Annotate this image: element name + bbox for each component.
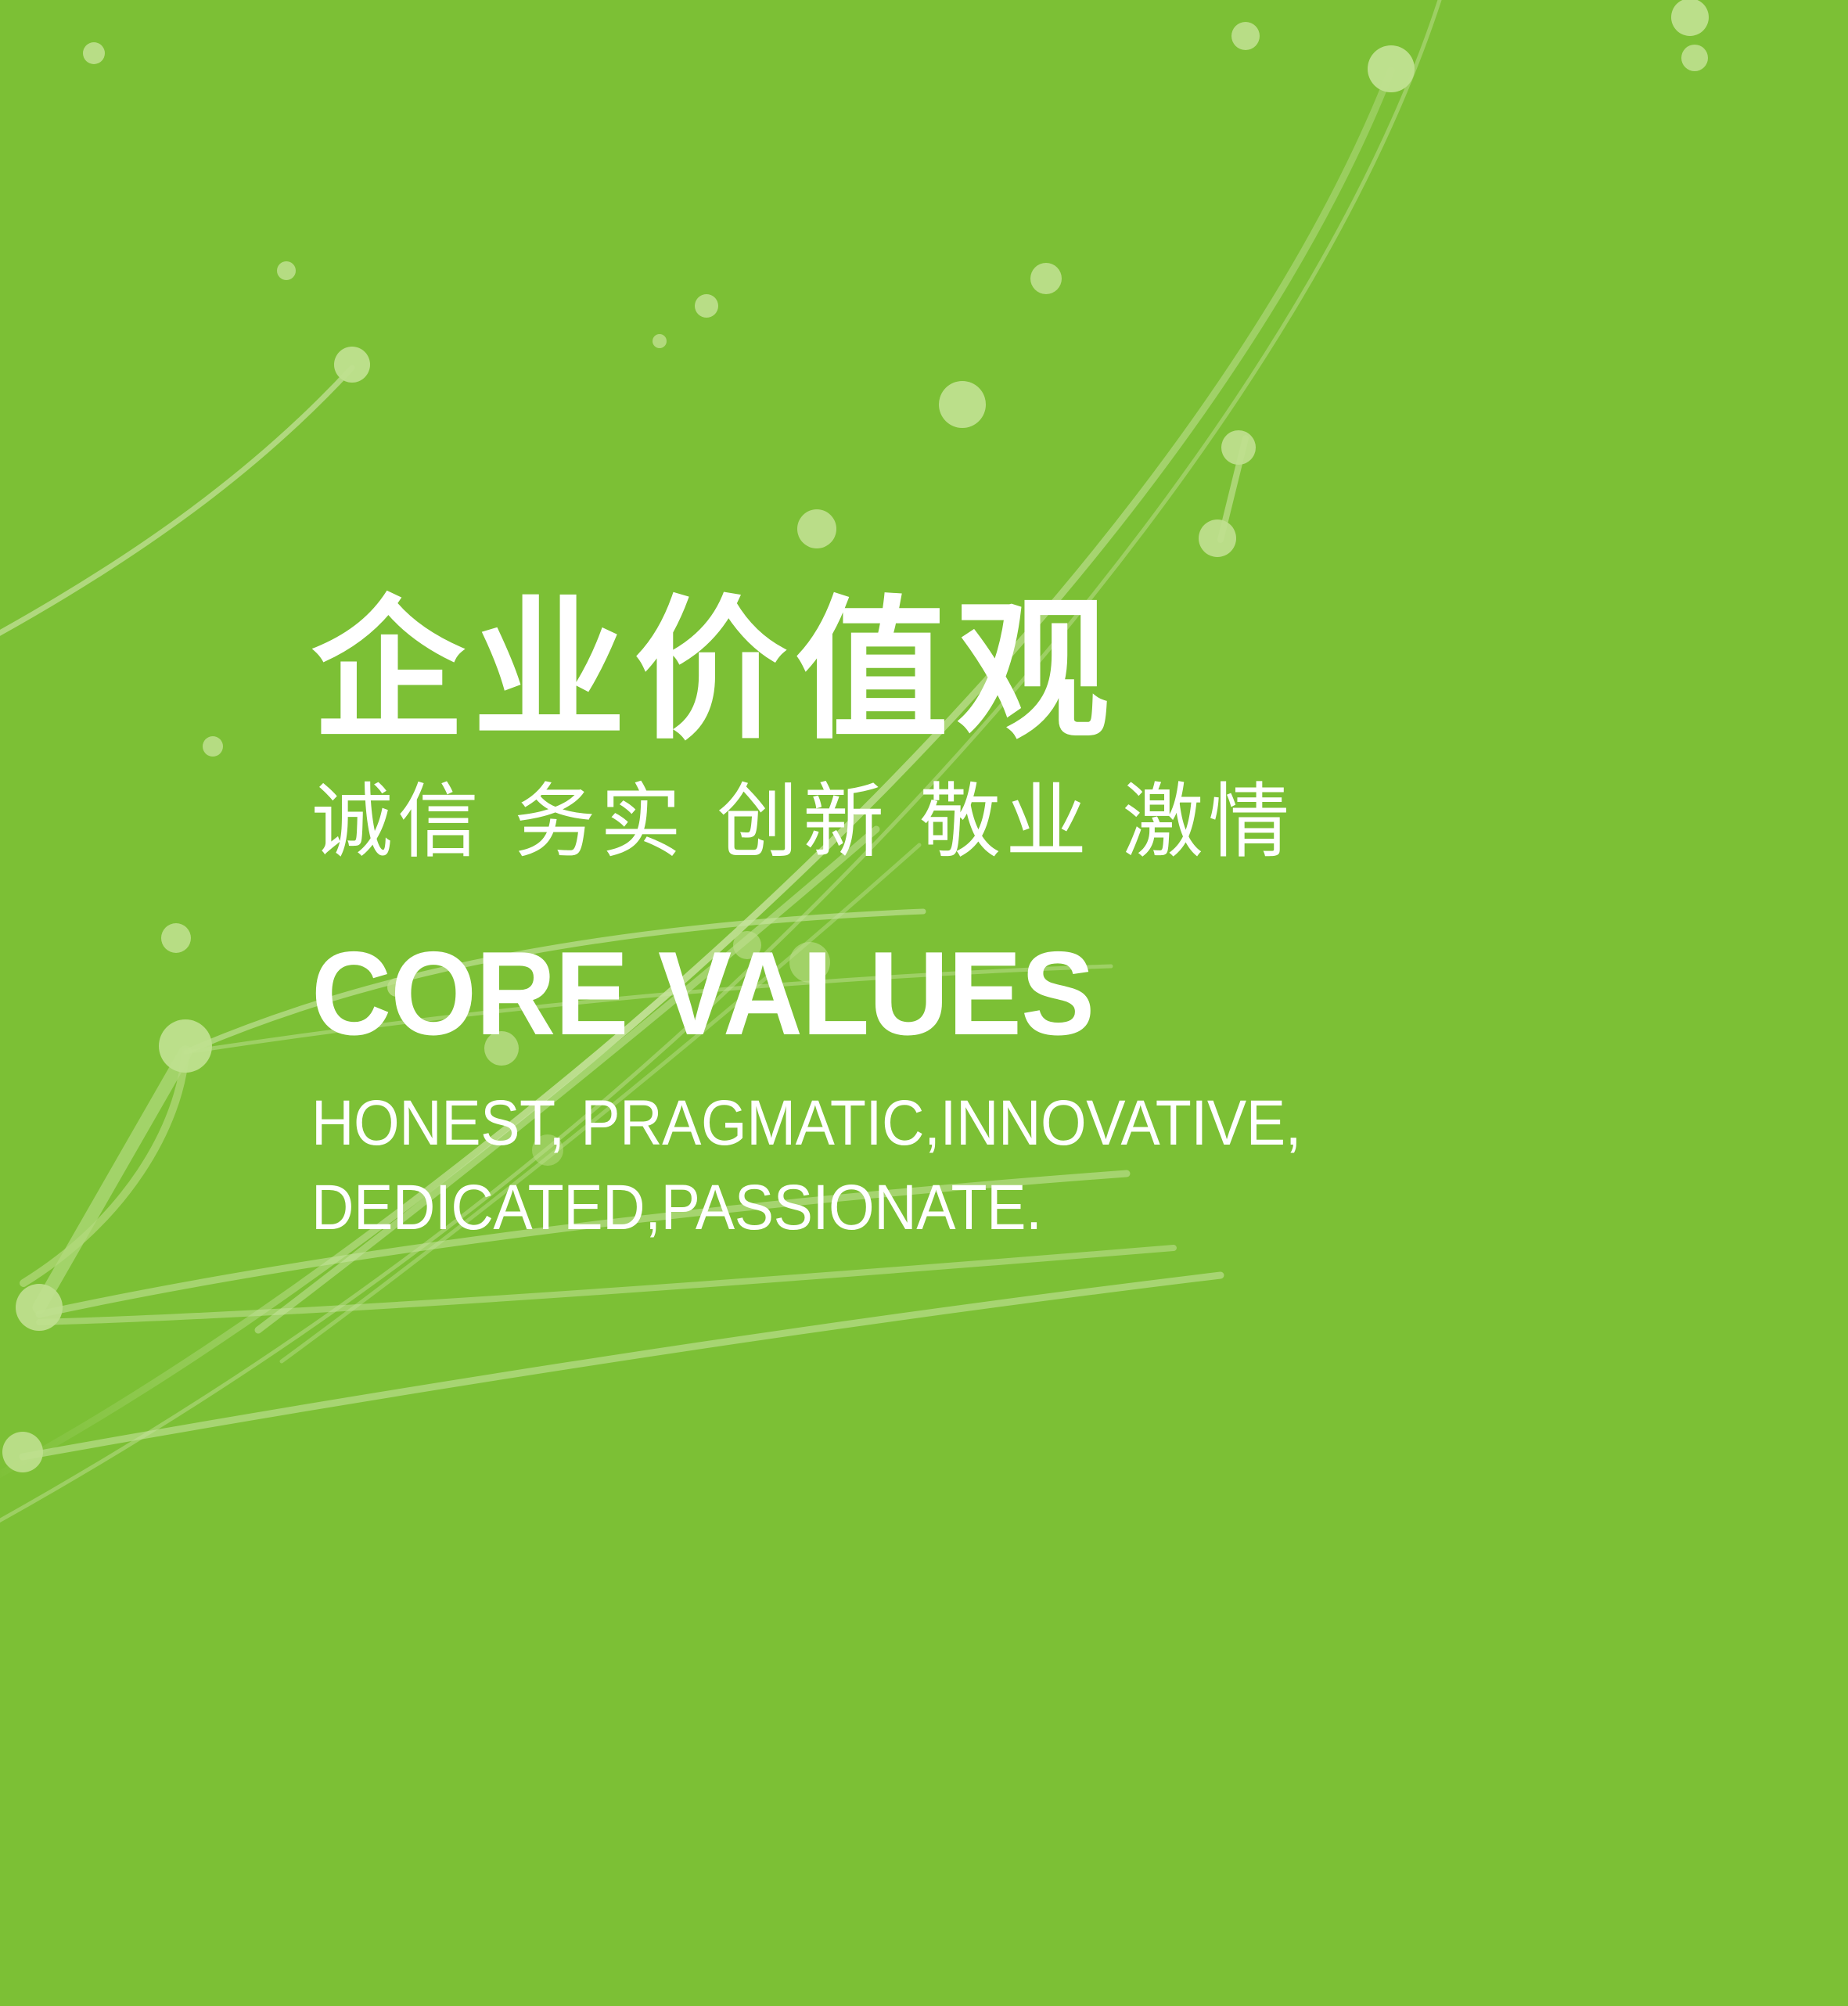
node-dot: [83, 42, 105, 64]
node-dot: [334, 347, 370, 383]
node-dot: [695, 294, 718, 318]
subtitle-english-line-2: DEDICATED,PASSIONATE.: [311, 1166, 1607, 1250]
edge-fan-6: [23, 1052, 185, 1283]
node-dot: [797, 509, 836, 548]
headline-block: 企业价值观 诚信 务实 创新 敬业 激情 CORE VALUES HONEST,…: [311, 595, 1720, 1250]
subtitle-english-line-1: HONEST, PRAGMATIC,INNOVATIVE,: [311, 1081, 1607, 1166]
node-dot: [1368, 45, 1415, 92]
node-dot: [159, 1019, 212, 1073]
node-dot: [1231, 22, 1260, 50]
edge-tick-1: [1221, 438, 1246, 540]
node-dot: [653, 334, 667, 348]
edge-fan-5: [23, 1275, 1221, 1457]
subtitle-chinese: 诚信 务实 创新 敬业 激情: [311, 748, 1720, 862]
core-values-poster: 企业价值观 诚信 务实 创新 敬业 激情 CORE VALUES HONEST,…: [0, 0, 1848, 2006]
node-dot: [2, 1432, 43, 1472]
node-dot: [939, 381, 986, 428]
edge-upper-left: [0, 368, 352, 642]
edge-fan-4: [39, 1248, 1174, 1322]
subtitle-english: HONEST, PRAGMATIC,INNOVATIVE, DEDICATED,…: [311, 1053, 1607, 1250]
page-title-english: CORE VALUES: [311, 862, 1621, 1053]
page-title-chinese: 企业价值观: [311, 595, 1720, 748]
edge-fan-1: [39, 1052, 185, 1307]
node-dot: [1681, 45, 1708, 71]
node-dot: [16, 1284, 63, 1331]
node-dot: [1199, 519, 1236, 557]
node-dot: [1671, 0, 1709, 36]
node-dot: [1221, 430, 1256, 465]
node-dot: [277, 261, 296, 280]
node-dot: [1030, 263, 1062, 294]
node-dot: [203, 736, 223, 757]
node-dot: [161, 923, 191, 953]
